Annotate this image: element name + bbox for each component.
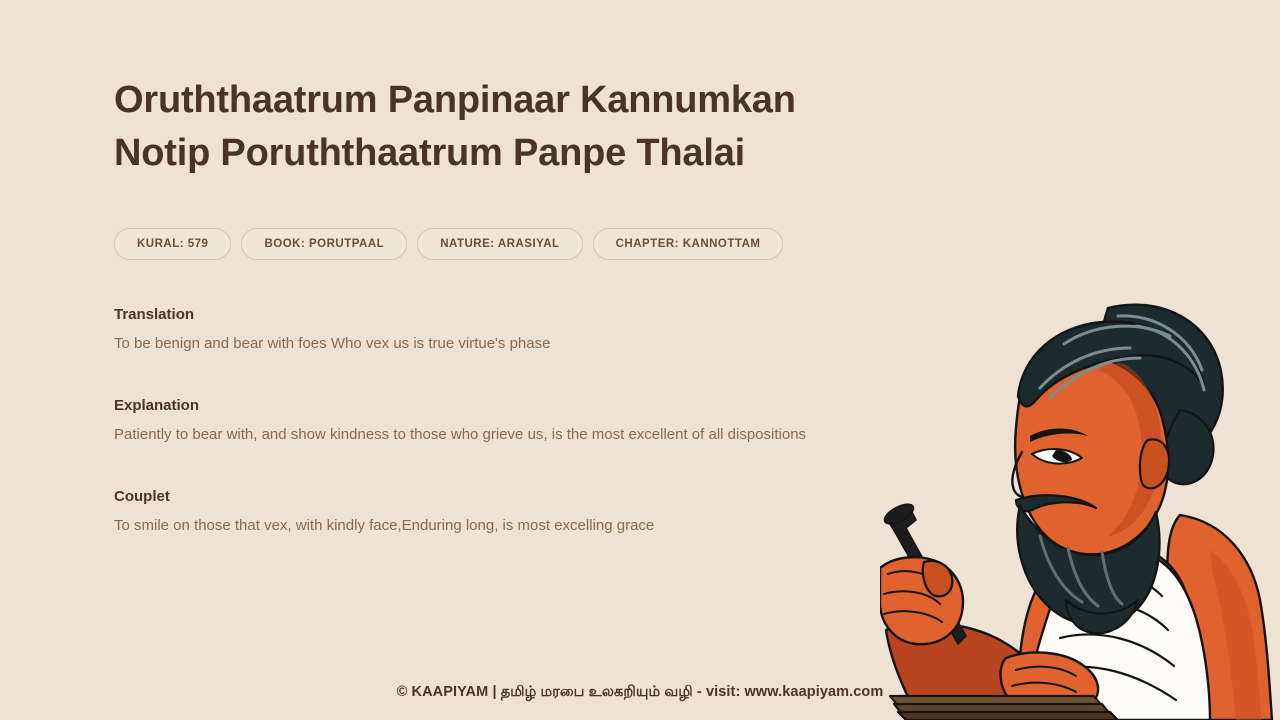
translation-text: To be benign and bear with foes Who vex … [114,333,894,355]
section-translation: Translation To be benign and bear with f… [114,306,894,355]
thiruvalluvar-illustration [880,300,1280,720]
footer-credit: © KAAPIYAM | தமிழ் மரபை உலகறியும் வழி - … [0,684,1280,702]
illustration-hair-strand-4 [1118,316,1202,370]
pill-chapter[interactable]: CHAPTER: KANNOTTAM [593,228,784,260]
illustration-ear [1140,439,1169,488]
illustration-right-hand [1001,652,1099,711]
illustration-cloth-fold-3 [1060,634,1174,666]
illustration-stylus [890,512,966,644]
illustration-cloth-fold-1 [1076,573,1162,596]
pill-kural[interactable]: KURAL: 579 [114,228,231,260]
illustration-finger-1 [888,571,938,584]
illustration-pupil [1052,450,1072,462]
illustration-nose [1012,452,1034,498]
illustration-thumb [923,561,953,596]
illustration-eyebrow [1030,429,1088,443]
illustration-hair-back [1163,410,1214,484]
illustration-hair-bun [1097,305,1223,467]
explanation-text: Patiently to bear with, and show kindnes… [114,424,894,446]
illustration-cloth-fold-2 [1068,602,1168,630]
illustration-hair-front [1018,322,1204,407]
explanation-heading: Explanation [114,397,894,414]
illustration-beard-strand-2 [1068,548,1098,606]
section-couplet: Couplet To smile on those that vex, with… [114,488,894,537]
illustration-left-forearm [886,623,1064,720]
illustration-head [1015,354,1168,554]
couplet-heading: Couplet [114,488,894,505]
illustration-palm-leaf-3 [898,712,1118,720]
illustration-left-hand [880,557,963,644]
illustration-moustache [1016,495,1096,511]
metadata-pill-row: KURAL: 579 BOOK: PORUTPAAL NATURE: ARASI… [114,228,894,260]
kural-card: Oruththaatrum Panpinaar Kannumkan Notip … [0,0,1280,720]
illustration-beard-strand-3 [1102,552,1122,604]
illustration-finger-3 [884,611,942,622]
illustration-hair-strand-3 [1064,326,1170,344]
illustration-beard-tip [1066,600,1138,633]
illustration-eye [1032,449,1082,464]
illustration-hair-strand-1 [1040,348,1130,388]
pill-nature[interactable]: NATURE: ARASIYAL [417,228,582,260]
page-title: Oruththaatrum Panpinaar Kannumkan Notip … [114,74,884,180]
section-explanation: Explanation Patiently to bear with, and … [114,397,894,446]
illustration-beard [1017,506,1159,626]
illustration-hair-strand-2 [1050,358,1140,398]
illustration-palm-leaf-2 [894,704,1110,714]
illustration-beard-strand-1 [1040,536,1082,602]
illustration-hair-strand-5 [1136,326,1204,390]
kural-content: Oruththaatrum Panpinaar Kannumkan Notip … [114,74,894,536]
illustration-finger-2 [884,591,940,604]
couplet-text: To smile on those that vex, with kindly … [114,515,894,537]
translation-heading: Translation [114,306,894,323]
illustration-right-finger-1 [1016,667,1076,676]
pill-book[interactable]: BOOK: PORUTPAAL [241,228,407,260]
illustration-face-shadow [1098,363,1161,536]
